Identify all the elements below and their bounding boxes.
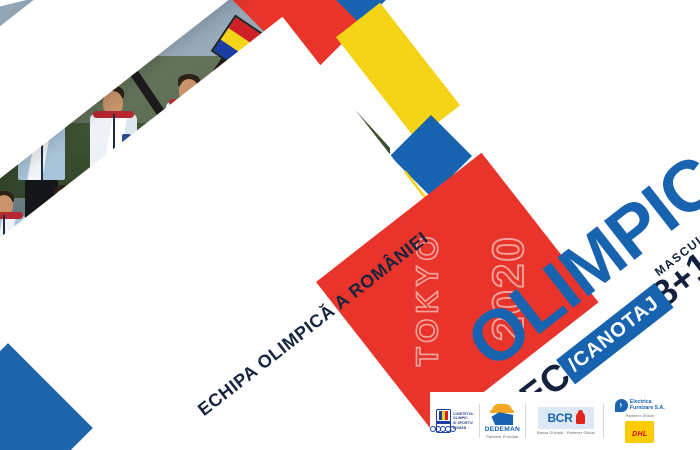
sponsor-electrica-dhl[interactable]: Electrica Furnizare S.A. Partener Oficia… <box>615 392 665 450</box>
electrica-caption: Partener Oficial <box>626 414 654 418</box>
electrica-name-line2: Furnizare S.A. <box>630 406 665 412</box>
cosr-badge-icon <box>436 409 451 433</box>
sponsor-cosr[interactable]: COMITETUL OLIMPIC ȘI SPORTIV ROMÂN <box>436 392 474 450</box>
cosr-name: COMITETUL OLIMPIC ȘI SPORTIV ROMÂN <box>453 412 474 430</box>
sponsor-bcr[interactable]: BCR Banca Oficială · Partener Oficial <box>537 392 595 450</box>
dedeman-caption: Partener Principal <box>486 435 518 439</box>
dedeman-logo-icon <box>489 403 515 425</box>
bcr-name: BCR <box>547 411 572 425</box>
sponsor-divider-3 <box>603 404 604 438</box>
sponsor-dedeman[interactable]: DEDEMAN Partener Principal <box>485 392 520 450</box>
dhl-name: DHL <box>632 431 647 438</box>
poster-canvas: TOKYO 2020 ECHIPA OLIMPICĂ A ROMÂNIEI OL… <box>0 0 700 450</box>
bcr-mark-icon <box>576 412 585 424</box>
bcr-caption: Banca Oficială · Partener Oficial <box>537 431 595 435</box>
sponsor-bar: COMITETUL OLIMPIC ȘI SPORTIV ROMÂN DEDEM… <box>430 392 700 450</box>
dhl-logo-icon: DHL <box>625 421 654 443</box>
sponsor-divider-2 <box>525 404 526 438</box>
bcr-logo-icon: BCR <box>538 407 593 429</box>
dedeman-name: DEDEMAN <box>485 426 520 433</box>
sponsor-divider-1 <box>479 404 480 438</box>
electrica-logo-icon: Electrica Furnizare S.A. <box>615 399 665 412</box>
